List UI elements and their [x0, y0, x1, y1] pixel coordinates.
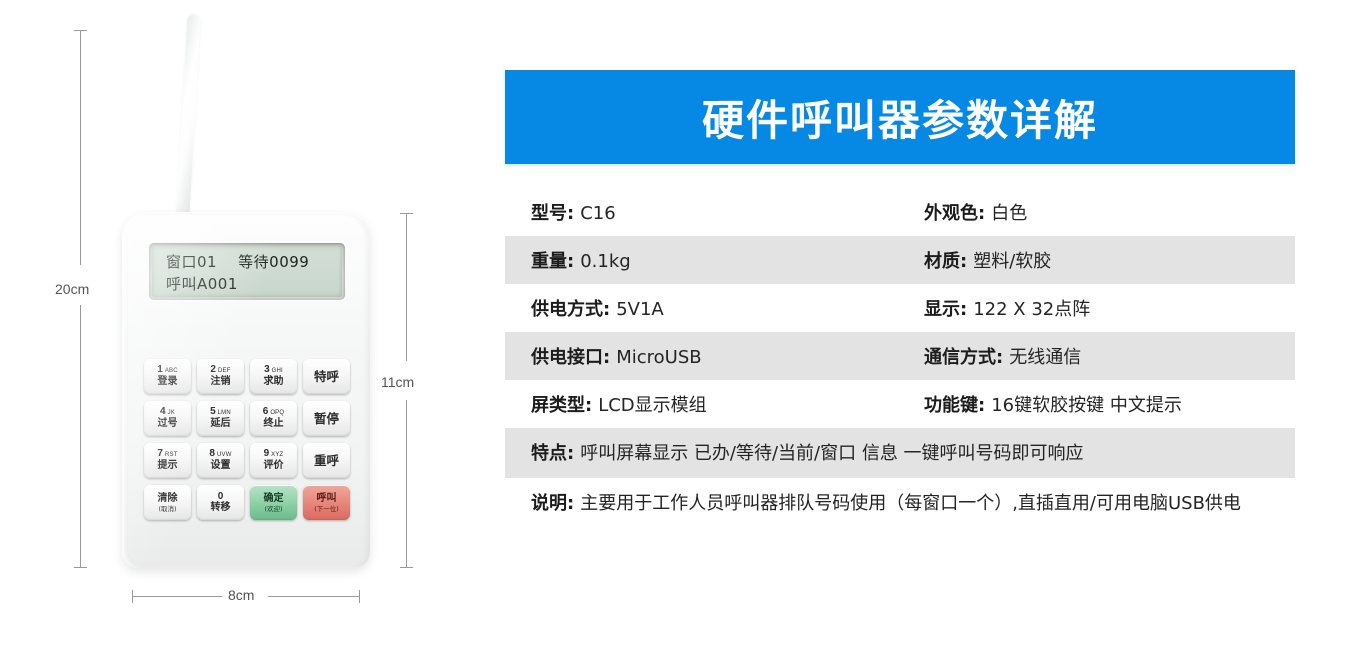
- spec-value: 122 X 32点阵: [973, 295, 1090, 321]
- key-label: 呼叫: [317, 493, 337, 505]
- spec-cell-communication: 通信方式: 无线通信: [924, 343, 1295, 369]
- spec-cell-display: 显示: 122 X 32点阵: [924, 295, 1295, 321]
- caller-device-body: 窗口01 等待0099 呼叫A001 1 ABC 登录 2 DEF: [122, 212, 370, 568]
- key-top: 3 GHI: [264, 365, 283, 376]
- key-top: 4 JK: [160, 407, 175, 418]
- lcd-screen: 窗口01 等待0099 呼叫A001: [152, 246, 342, 297]
- spec-key: 重量:: [531, 247, 574, 273]
- spec-value: 呼叫屏幕显示 已办/等待/当前/窗口 信息 一键呼叫号码即可响应: [580, 441, 1083, 467]
- key-label: 终止: [264, 418, 284, 430]
- key-label: 暂停: [314, 413, 339, 425]
- key-confirm[interactable]: 确定 (欢迎): [250, 485, 297, 520]
- spec-cell-model: 型号: C16: [531, 199, 924, 225]
- spec-row-screen: 屏类型: LCD显示模组 功能键: 16键软胶按键 中文提示: [505, 380, 1295, 428]
- key-letters: GHI: [272, 366, 283, 376]
- key-sublabel: (取消): [158, 505, 176, 513]
- key-letters: UVW: [217, 450, 232, 460]
- key-number: 0: [218, 492, 224, 502]
- key-top: 5 LMN: [210, 407, 231, 418]
- key-letters: JK: [168, 408, 175, 418]
- spec-cell-description: 说明: 主要用于工作人员呼叫器排队号码使用（每窗口一个）,直插直用/可用电脑US…: [531, 489, 1295, 517]
- key-label: 登录: [158, 376, 178, 388]
- key-2-logout[interactable]: 2 DEF 注销: [197, 359, 244, 394]
- dimension-height-label: 20cm: [55, 281, 89, 297]
- antenna: [176, 14, 201, 222]
- key-pause[interactable]: 暂停: [303, 401, 350, 436]
- key-label: 重呼: [314, 455, 339, 467]
- key-letters: LMN: [218, 408, 231, 418]
- lcd-bezel: 窗口01 等待0099 呼叫A001: [149, 243, 345, 300]
- spec-row-interface: 供电接口: MicroUSB 通信方式: 无线通信: [505, 332, 1295, 380]
- key-sublabel: (下一位): [314, 505, 339, 513]
- key-top: 1 ABC: [157, 365, 178, 376]
- spec-value: LCD显示模组: [598, 391, 706, 417]
- lcd-line-1: 窗口01 等待0099: [166, 251, 334, 273]
- key-label: 设置: [211, 460, 231, 472]
- spec-key: 通信方式:: [924, 343, 1003, 369]
- key-top: 0: [218, 492, 224, 502]
- key-top: 2 DEF: [210, 365, 230, 376]
- key-number: 3: [264, 365, 270, 375]
- spec-key: 外观色:: [924, 199, 985, 225]
- key-0-transfer[interactable]: 0 转移: [197, 485, 244, 520]
- key-recall[interactable]: 重呼: [303, 443, 350, 478]
- spec-cell-power-port: 供电接口: MicroUSB: [531, 343, 924, 369]
- key-9-rating[interactable]: 9 XYZ 评价: [250, 443, 297, 478]
- spec-value: 主要用于工作人员呼叫器排队号码使用（每窗口一个）,直插直用/可用电脑USB供电: [580, 491, 1241, 517]
- key-label: 特呼: [314, 371, 339, 383]
- spec-key: 屏类型:: [531, 391, 592, 417]
- spec-key: 供电接口:: [531, 343, 610, 369]
- spec-value: 白色: [991, 199, 1027, 225]
- key-1-login[interactable]: 1 ABC 登录: [144, 359, 191, 394]
- product-photo-panel: 窗口01 等待0099 呼叫A001 1 ABC 登录 2 DEF: [0, 0, 470, 666]
- spec-key: 材质:: [924, 247, 967, 273]
- spec-row-power: 供电方式: 5V1A 显示: 122 X 32点阵: [505, 284, 1295, 332]
- key-letters: DEF: [218, 366, 231, 376]
- page-title-banner: 硬件呼叫器参数详解: [505, 70, 1295, 164]
- spec-cell-screen-type: 屏类型: LCD显示模组: [531, 391, 924, 417]
- spec-cell-features: 特点: 呼叫屏幕显示 已办/等待/当前/窗口 信息 一键呼叫号码即可响应: [531, 439, 1295, 467]
- key-4-skip[interactable]: 4 JK 过号: [144, 401, 191, 436]
- spec-value: 塑料/软胶: [973, 247, 1051, 273]
- key-top: 8 UVW: [209, 449, 231, 460]
- spec-cell-color: 外观色: 白色: [924, 199, 1295, 225]
- spec-key: 说明:: [531, 489, 574, 515]
- key-number: 7: [157, 449, 163, 459]
- spec-row-weight: 重量: 0.1kg 材质: 塑料/软胶: [505, 236, 1295, 284]
- key-5-postpone[interactable]: 5 LMN 延后: [197, 401, 244, 436]
- key-number: 5: [210, 407, 216, 417]
- spec-key: 特点:: [531, 439, 574, 465]
- spec-value: 16键软胶按键 中文提示: [991, 391, 1182, 417]
- dimension-width-label: 8cm: [228, 587, 254, 603]
- key-label: 注销: [211, 376, 231, 388]
- page-title: 硬件呼叫器参数详解: [702, 87, 1098, 148]
- spec-table: 型号: C16 外观色: 白色 重量: 0.1kg 材质: 塑料/软胶: [505, 188, 1295, 528]
- key-top: 9 XYZ: [264, 449, 284, 460]
- key-letters: XYZ: [271, 450, 283, 460]
- key-label: 清除: [158, 493, 178, 505]
- spec-panel: 硬件呼叫器参数详解 型号: C16 外观色: 白色 重量: 0.1kg: [505, 0, 1295, 528]
- key-label: 评价: [264, 460, 284, 472]
- key-number: 9: [264, 449, 270, 459]
- spec-cell-power-supply: 供电方式: 5V1A: [531, 295, 924, 321]
- spec-cell-function-keys: 功能键: 16键软胶按键 中文提示: [924, 391, 1295, 417]
- spec-value: 0.1kg: [580, 251, 630, 272]
- spec-value: 5V1A: [616, 299, 664, 320]
- key-7-prompt[interactable]: 7 RST 提示: [144, 443, 191, 478]
- key-number: 6: [263, 407, 269, 417]
- key-3-help[interactable]: 3 GHI 求助: [250, 359, 297, 394]
- spec-key: 型号:: [531, 199, 574, 225]
- spec-row-model: 型号: C16 外观色: 白色: [505, 188, 1295, 236]
- spec-value: C16: [580, 203, 615, 224]
- lcd-line-2: 呼叫A001: [166, 273, 334, 295]
- key-number: 8: [209, 449, 215, 459]
- spec-value: 无线通信: [1009, 343, 1081, 369]
- key-letters: OPQ: [270, 408, 284, 418]
- key-label: 确定: [264, 493, 284, 505]
- key-call-next[interactable]: 呼叫 (下一位): [303, 485, 350, 520]
- key-6-terminate[interactable]: 6 OPQ 终止: [250, 401, 297, 436]
- key-top: 6 OPQ: [263, 407, 285, 418]
- key-sublabel: (欢迎): [264, 505, 282, 513]
- key-top: 7 RST: [157, 449, 177, 460]
- product-spec-page: 窗口01 等待0099 呼叫A001 1 ABC 登录 2 DEF: [0, 0, 1353, 666]
- key-8-settings[interactable]: 8 UVW 设置: [197, 443, 244, 478]
- spec-value: MicroUSB: [616, 347, 701, 368]
- key-number: 4: [160, 407, 166, 417]
- key-label: 过号: [158, 418, 178, 430]
- spec-key: 供电方式:: [531, 295, 610, 321]
- keypad: 1 ABC 登录 2 DEF 注销 3 GHI: [144, 359, 350, 520]
- key-letters: RST: [165, 450, 178, 460]
- spec-cell-material: 材质: 塑料/软胶: [924, 247, 1295, 273]
- spec-cell-weight: 重量: 0.1kg: [531, 247, 924, 273]
- key-clear[interactable]: 清除 (取消): [144, 485, 191, 520]
- key-label: 求助: [264, 376, 284, 388]
- key-number: 2: [210, 365, 216, 375]
- spec-row-features: 特点: 呼叫屏幕显示 已办/等待/当前/窗口 信息 一键呼叫号码即可响应: [505, 428, 1295, 478]
- key-label: 转移: [211, 502, 231, 514]
- spec-key: 显示:: [924, 295, 967, 321]
- key-special-call[interactable]: 特呼: [303, 359, 350, 394]
- spec-key: 功能键:: [924, 391, 985, 417]
- dimension-depth-label: 11cm: [381, 374, 414, 390]
- spec-row-description: 说明: 主要用于工作人员呼叫器排队号码使用（每窗口一个）,直插直用/可用电脑US…: [505, 478, 1295, 528]
- key-label: 延后: [211, 418, 231, 430]
- key-letters: ABC: [165, 366, 178, 376]
- key-label: 提示: [158, 460, 178, 472]
- key-number: 1: [157, 365, 163, 375]
